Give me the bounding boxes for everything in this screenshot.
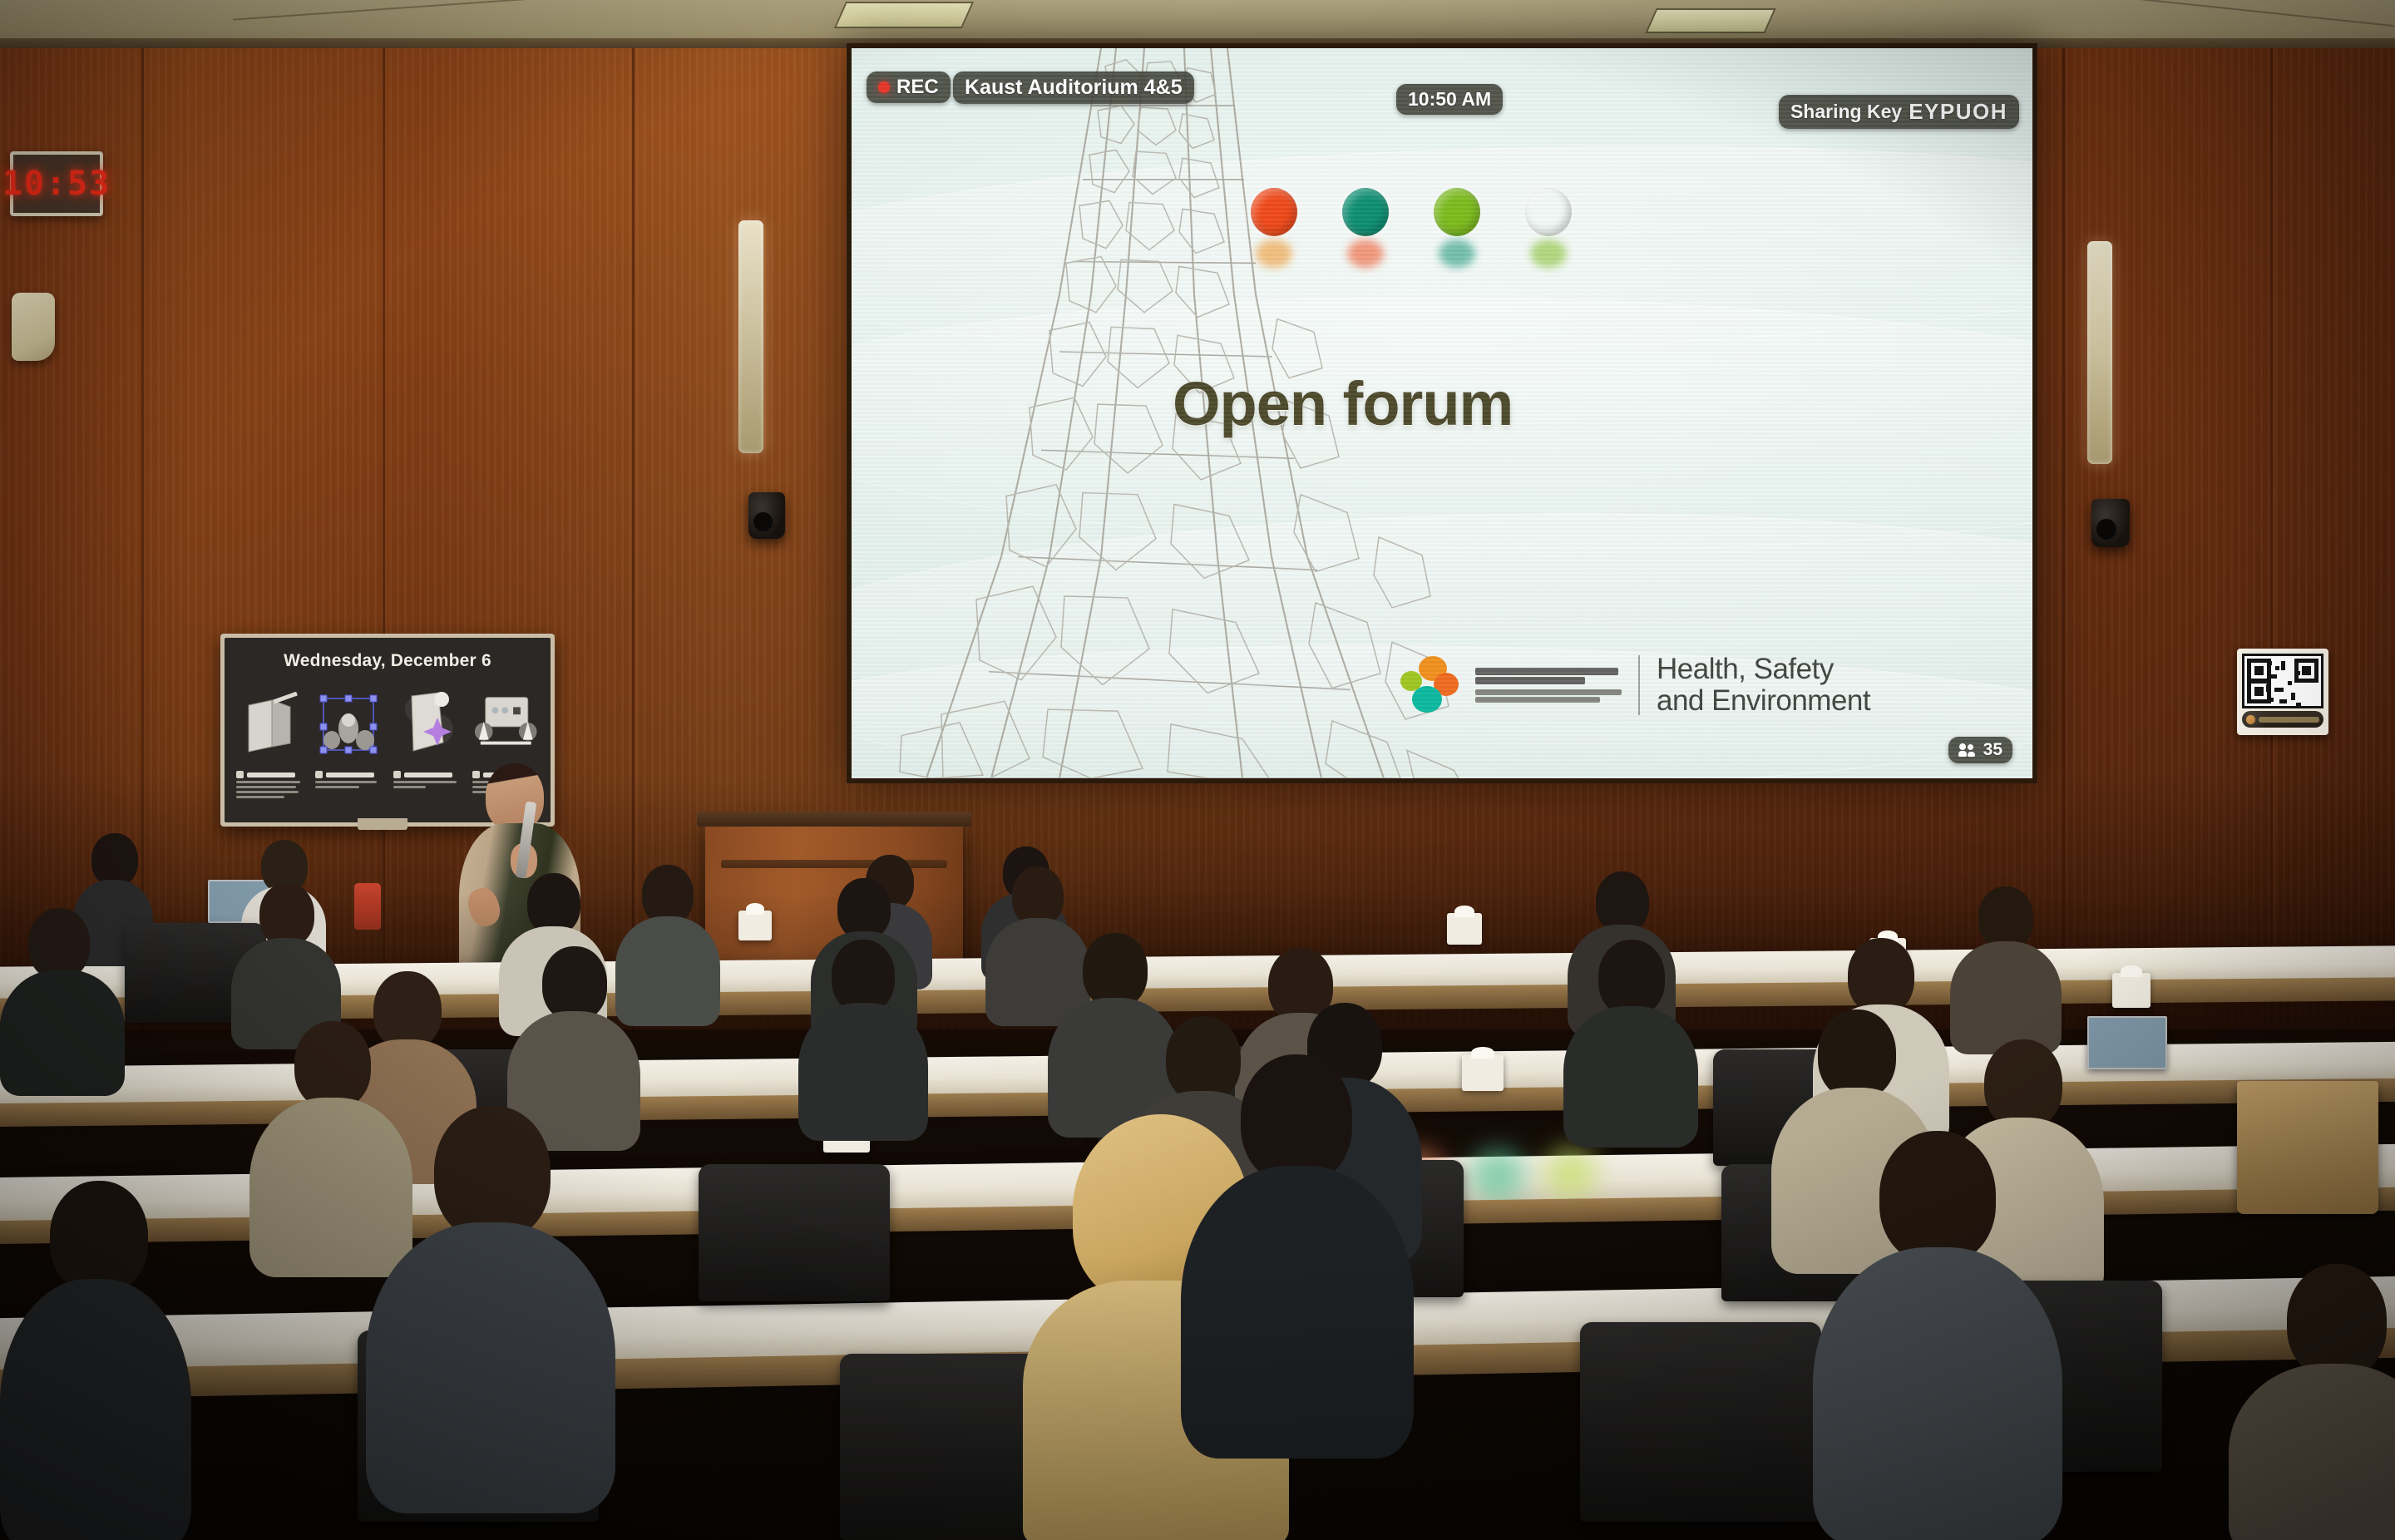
kaust-wordmark [1475,668,1622,703]
room-name-badge: Kaust Auditorium 4&5 [953,72,1194,104]
wall-mounted-fixture [12,293,55,361]
dot-green-reflection [1530,239,1567,268]
side-monitor-title: Wednesday, December 6 [225,651,551,671]
caption-icon [315,771,323,778]
qr-code-sign [2237,649,2328,735]
audience-body [0,970,125,1096]
desk-light-reflection [1544,1148,1597,1199]
participants-icon [1958,743,1977,757]
audience-head [542,946,607,1021]
wall-clock: 10:53 [10,151,103,216]
tissue-box [2112,973,2151,1008]
recording-label: REC [896,76,939,99]
wall-clock-time: 10:53 [2,165,111,203]
participant-count: 35 [1983,740,2002,760]
clock-time: 10:50 AM [1408,88,1491,111]
wall-light-slot [738,220,763,453]
audience-head [2287,1264,2387,1379]
audience-member [231,883,341,1041]
slide-color-dots [1251,188,1572,236]
dot-orange [1251,188,1297,236]
audience-head [837,878,891,940]
audience-member [798,940,928,1134]
wall-speaker [748,492,785,539]
audience-body [798,1003,928,1141]
sharing-key-badge: Sharing Key EYPUOH [1779,95,2019,129]
audience-body [1181,1166,1414,1459]
slide-title: Open forum [1173,368,1513,439]
qr-sign-label [2242,711,2323,728]
audience-head [259,883,314,946]
audience-head [527,873,580,935]
ceiling-light-panel [1645,8,1775,33]
qr-label-icon [2246,715,2255,724]
slide-dot [1342,188,1389,236]
monitor-caption [236,771,304,801]
presenter-head [486,763,544,832]
audience-body [1563,1006,1698,1148]
audience-body [366,1222,615,1513]
monitor-stand [358,818,407,830]
hse-line-2: and Environment [1657,685,1870,717]
audience-head [1598,940,1665,1016]
audience-head [434,1106,551,1241]
audience-member [2229,1264,2395,1540]
dot-teal [1434,188,1480,236]
desk-light-reflection [1469,1149,1525,1202]
sharing-key-code: EYPUOH [1909,99,2007,125]
audience-head [832,940,895,1013]
audience-head [1818,1009,1896,1099]
audience-head [1984,1039,2062,1129]
selection-handles-icon [315,684,383,764]
monitor-card [393,684,461,764]
audience-member [0,1181,191,1540]
dot-teal-reflection [1439,239,1475,268]
chair [699,1164,890,1301]
ceiling-light-panel [834,2,974,28]
audience-member [1950,886,2062,1049]
room-name-label: Kaust Auditorium 4&5 [965,76,1183,100]
audience-head [1241,1054,1352,1184]
audience-head [1879,1131,1996,1264]
audience-body [1950,941,2062,1054]
hse-department-name: Health, Safety and Environment [1657,654,1870,717]
hse-line-1: Health, Safety [1657,654,1870,685]
kaust-logo-mark [1400,656,1462,714]
brush-sparkle-icon [393,684,461,764]
qr-code [2242,654,2323,708]
water-bottle [354,883,381,930]
chair [1580,1322,1821,1522]
audience-body [0,1279,191,1540]
monitor-card [472,684,540,764]
monitor-card [236,684,304,764]
qr-label-text [2259,717,2319,723]
dot-green [1525,188,1572,236]
audience-head [1978,886,2033,950]
podium-top-surface [697,812,971,827]
audience-head [50,1181,148,1294]
monitor-caption [315,771,383,801]
clock-badge: 10:50 AM [1396,84,1503,115]
record-dot-icon [878,81,890,93]
wall-light-slot [2087,241,2112,464]
participant-count-badge: 35 [1948,737,2012,763]
audience-member [366,1106,615,1505]
wall-speaker [2091,499,2130,547]
recording-indicator: REC [867,72,951,103]
auditorium-photo: 10:53 [0,0,2395,1540]
tissue-box [738,911,772,940]
audience-head [1596,871,1649,933]
sharing-key-label: Sharing Key [1790,101,1902,123]
floodlight-panel-icon [472,684,540,764]
dot-orange-reflection [1256,239,1292,268]
side-monitor-cards [236,684,539,764]
dot-red [1342,188,1389,236]
audience-head [1083,933,1148,1008]
tissue-box [1462,1054,1504,1091]
projection-screen-frame: Open forum Health, Safety [847,43,2037,783]
tote-bag [2237,1081,2378,1214]
projection-screen: Open forum Health, Safety [852,48,2032,778]
logo-divider [1638,655,1640,715]
audience-member [1813,1131,2062,1540]
slide-dot [1251,188,1297,236]
dot-red-reflection [1347,239,1384,268]
caption-icon [393,771,401,778]
audience-head [91,833,138,886]
audience-head [1848,938,1914,1014]
document-pen-icon [236,684,304,764]
audience-member [0,908,125,1091]
slide-dot [1434,188,1480,236]
kaust-hse-logo-lockup: Health, Safety and Environment [1400,654,1870,717]
monitor-card [315,684,383,764]
audience-body [2229,1364,2395,1540]
audience-member [1181,1054,1414,1454]
caption-icon [236,771,244,778]
monitor-caption [393,771,461,801]
audience-body [1813,1247,2062,1540]
audience-member [1563,940,1698,1139]
tissue-box [1447,913,1482,945]
audience-head [294,1021,371,1109]
slide-dot [1525,188,1572,236]
